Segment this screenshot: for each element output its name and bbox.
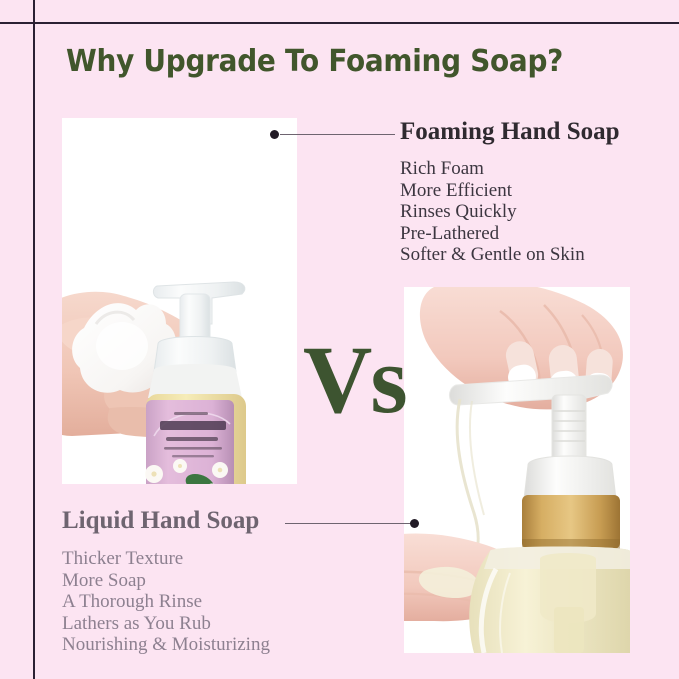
list-item: A Thorough Rinse — [62, 591, 270, 613]
list-item: Rinses Quickly — [400, 201, 620, 223]
list-item: More Efficient — [400, 180, 620, 202]
liquid-benefit-list: Thicker Texture More Soap A Thorough Rin… — [62, 548, 270, 656]
list-item: More Soap — [62, 570, 270, 592]
liquid-heading: Liquid Hand Soap — [62, 508, 270, 534]
foaming-benefit-list: Rich Foam More Efficient Rinses Quickly … — [400, 158, 620, 266]
page-title: Why Upgrade To Foaming Soap? — [66, 44, 563, 79]
connector-dot-liquid — [410, 519, 419, 528]
list-item: Rich Foam — [400, 158, 620, 180]
foaming-heading: Foaming Hand Soap — [400, 119, 620, 145]
infographic-page: Why Upgrade To Foaming Soap? — [0, 0, 679, 679]
frame-left-rule — [33, 0, 35, 679]
foaming-text-block: Foaming Hand Soap Rich Foam More Efficie… — [400, 119, 620, 266]
connector-line-foaming — [280, 134, 395, 135]
list-item: Lathers as You Rub — [62, 613, 270, 635]
list-item: Nourishing & Moisturizing — [62, 634, 270, 656]
connector-line-liquid — [285, 523, 411, 524]
list-item: Thicker Texture — [62, 548, 270, 570]
liquid-text-block: Liquid Hand Soap Thicker Texture More So… — [62, 508, 270, 656]
frame-top-rule — [0, 22, 679, 24]
list-item: Pre-Lathered — [400, 223, 620, 245]
liquid-soap-photo — [404, 287, 630, 653]
list-item: Softer & Gentle on Skin — [400, 244, 620, 266]
connector-dot-foaming — [270, 130, 279, 139]
vs-label: Vs — [303, 332, 406, 428]
foaming-soap-photo — [62, 118, 297, 484]
